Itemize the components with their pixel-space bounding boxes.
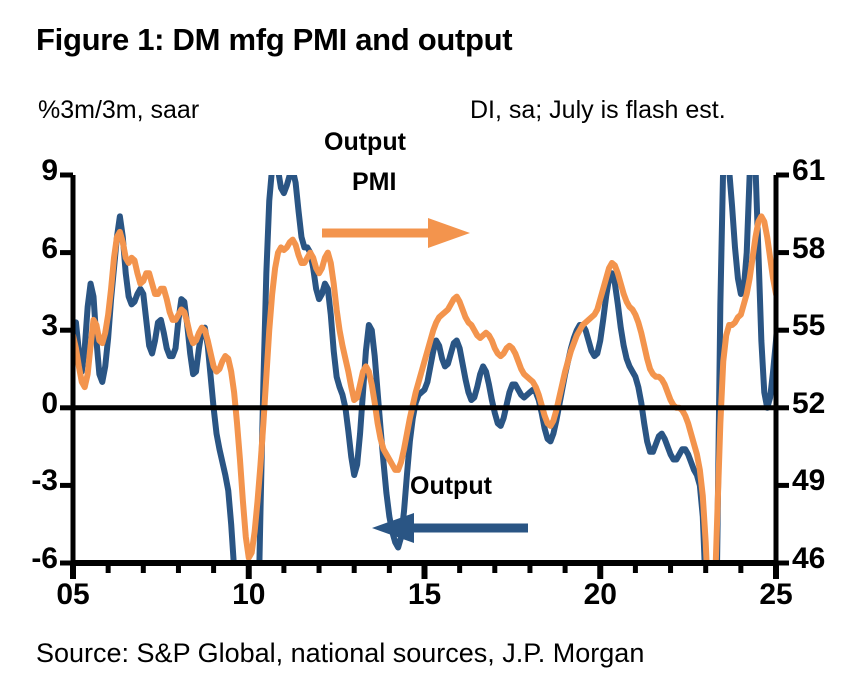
x-axis-label-15: 15 (390, 578, 460, 612)
left-axis-unit-label: %3m/3m, saar (38, 96, 199, 125)
annotation-output: Output (410, 472, 492, 501)
y-axis-label-right-58: 58 (792, 232, 852, 266)
y-axis-label-left-9: 9 (8, 154, 58, 188)
series-line-pmi (73, 216, 852, 653)
y-axis-label-left-6: 6 (8, 232, 58, 266)
y-axis-label-left-0: 0 (8, 387, 58, 421)
page-title: Figure 1: DM mfg PMI and output (36, 22, 512, 58)
y-axis-label-right-46: 46 (792, 542, 852, 576)
source-note: Source: S&P Global, national sources, J.… (36, 638, 644, 669)
right-axis-unit-label: DI, sa; July is flash est. (470, 96, 726, 125)
annotation-output-pmi-line2: PMI (352, 168, 396, 197)
x-axis-label-25: 25 (741, 578, 811, 612)
arrow-pmi-right-icon-head (428, 218, 470, 248)
y-axis-label-right-55: 55 (792, 309, 852, 343)
figure-container: Figure 1: DM mfg PMI and output %3m/3m, … (0, 0, 852, 689)
x-axis-label-10: 10 (214, 578, 284, 612)
y-axis-label-left--3: -3 (8, 464, 58, 498)
x-axis-label-20: 20 (565, 578, 635, 612)
y-axis-label-right-61: 61 (792, 154, 852, 188)
annotation-output-pmi-line1: Output (324, 128, 406, 157)
y-axis-label-left-3: 3 (8, 309, 58, 343)
y-axis-label-right-49: 49 (792, 464, 852, 498)
y-axis-label-left--6: -6 (8, 542, 58, 576)
y-axis-label-right-52: 52 (792, 387, 852, 421)
x-axis-label-05: 05 (38, 578, 108, 612)
